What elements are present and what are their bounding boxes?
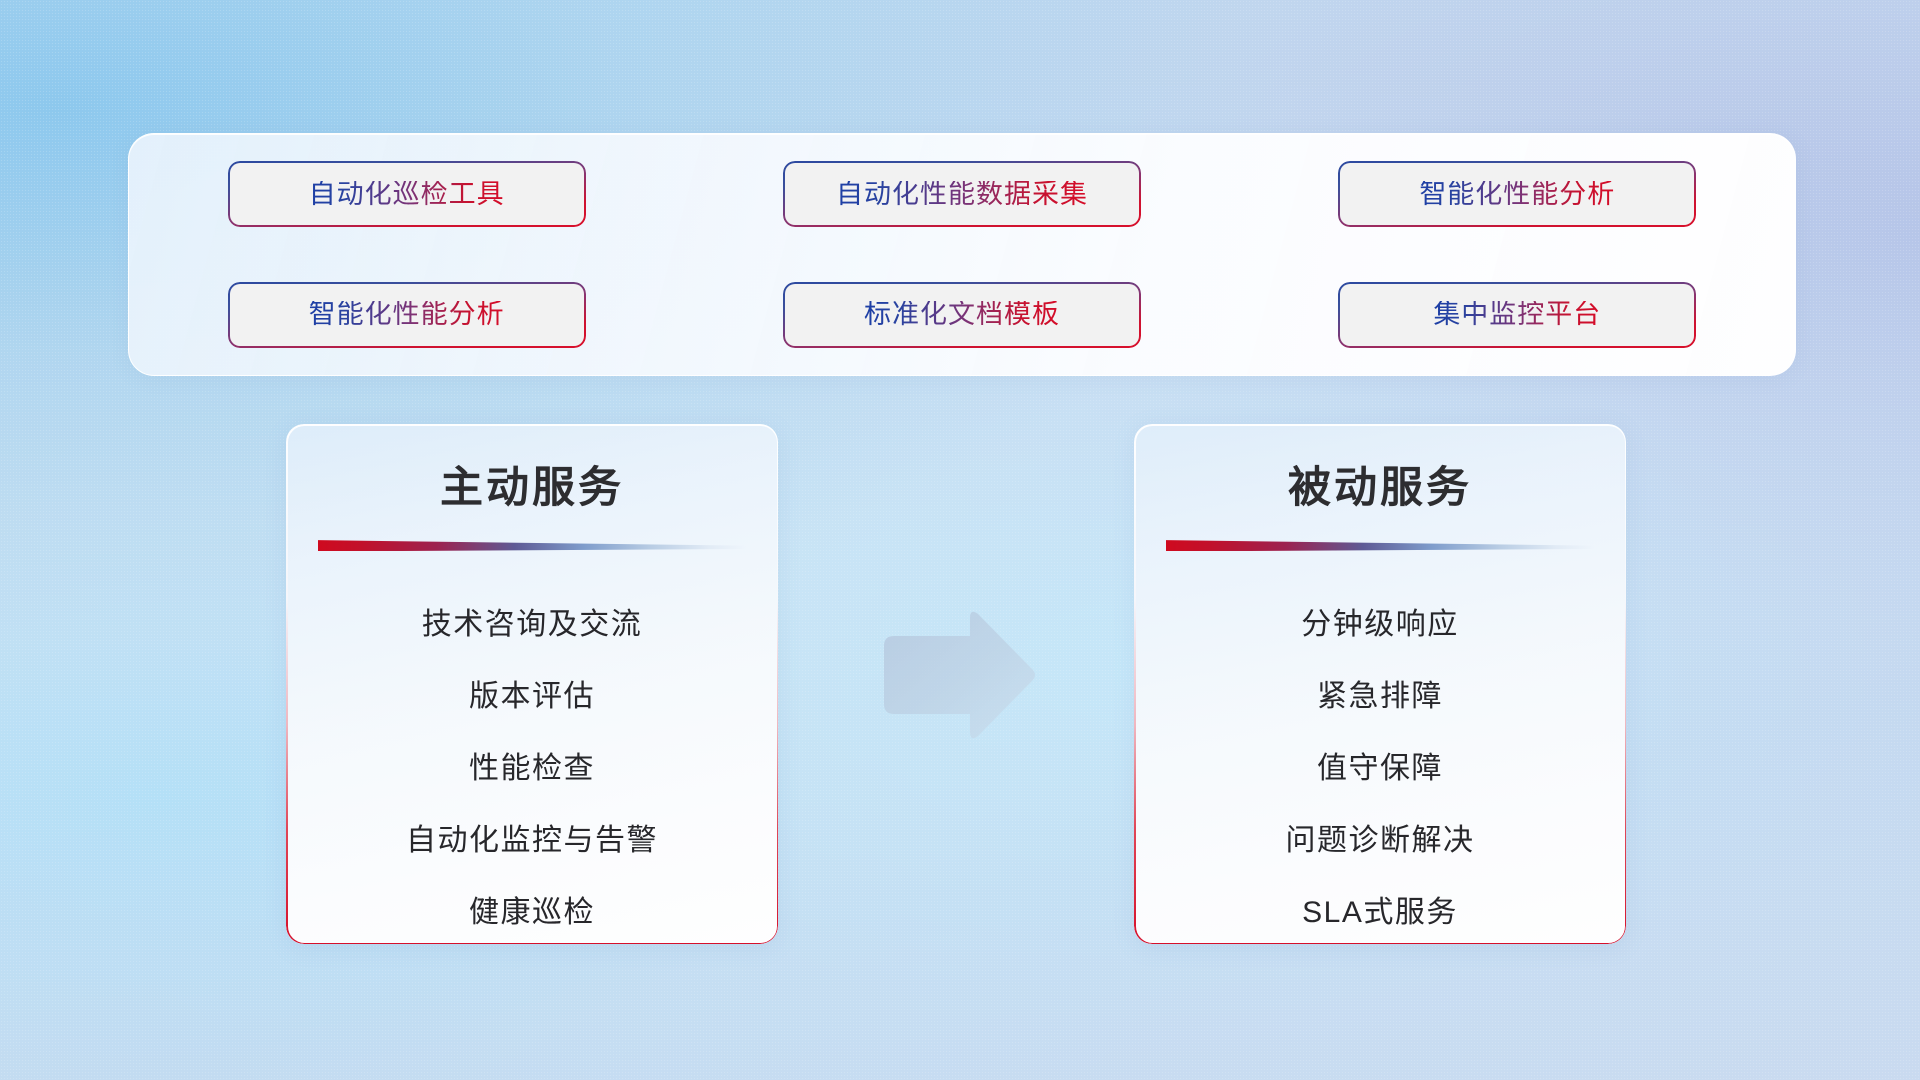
capability-tag-label: 智能化性能分析 — [309, 301, 505, 328]
list-item: 值守保障 — [1317, 729, 1443, 801]
list-item: 性能检查 — [469, 729, 595, 801]
poster-stage: 自动化巡检工具 自动化性能数据采集 智能化性能分析 智能化性能分析 标准化文档模… — [0, 0, 1920, 1080]
capability-tag-label: 标准化文档模板 — [864, 301, 1060, 328]
service-card-proactive: 主动服务 技术咨询及交流 版本评估 性能检查 自动化监控与告警 健康巡检 — [286, 424, 778, 944]
list-item: 分钟级响应 — [1301, 585, 1459, 657]
card-divider — [318, 539, 746, 551]
card-title: 被动服务 — [1134, 464, 1626, 513]
capability-tag[interactable]: 自动化性能数据采集 — [783, 161, 1141, 227]
card-item-list: 分钟级响应 紧急排障 值守保障 问题诊断解决 SLA式服务 — [1134, 585, 1626, 944]
capability-tag-label: 自动化性能数据采集 — [836, 181, 1088, 208]
list-item: SLA式服务 — [1302, 873, 1458, 944]
card-title: 主动服务 — [286, 464, 778, 513]
capability-tag[interactable]: 自动化巡检工具 — [228, 161, 586, 227]
list-item: 紧急排障 — [1317, 657, 1443, 729]
card-item-list: 技术咨询及交流 版本评估 性能检查 自动化监控与告警 健康巡检 — [286, 585, 778, 944]
arrow-right-icon — [876, 610, 1036, 740]
capability-tag[interactable]: 集中监控平台 — [1338, 282, 1696, 348]
capability-tags-panel: 自动化巡检工具 自动化性能数据采集 智能化性能分析 智能化性能分析 标准化文档模… — [128, 133, 1796, 376]
list-item: 健康巡检 — [469, 873, 595, 944]
service-card-reactive: 被动服务 分钟级响应 紧急排障 值守保障 问题诊断解决 SLA式服务 — [1134, 424, 1626, 944]
list-item: 自动化监控与告警 — [406, 801, 658, 873]
list-item: 版本评估 — [469, 657, 595, 729]
capability-tag-label: 智能化性能分析 — [1419, 181, 1615, 208]
capability-tag[interactable]: 智能化性能分析 — [1338, 161, 1696, 227]
list-item: 技术咨询及交流 — [422, 585, 643, 657]
capability-tag[interactable]: 标准化文档模板 — [783, 282, 1141, 348]
capability-tag-label: 自动化巡检工具 — [309, 181, 505, 208]
capability-tag[interactable]: 智能化性能分析 — [228, 282, 586, 348]
capability-tag-label: 集中监控平台 — [1433, 301, 1601, 328]
list-item: 问题诊断解决 — [1286, 801, 1475, 873]
card-divider — [1166, 539, 1594, 551]
